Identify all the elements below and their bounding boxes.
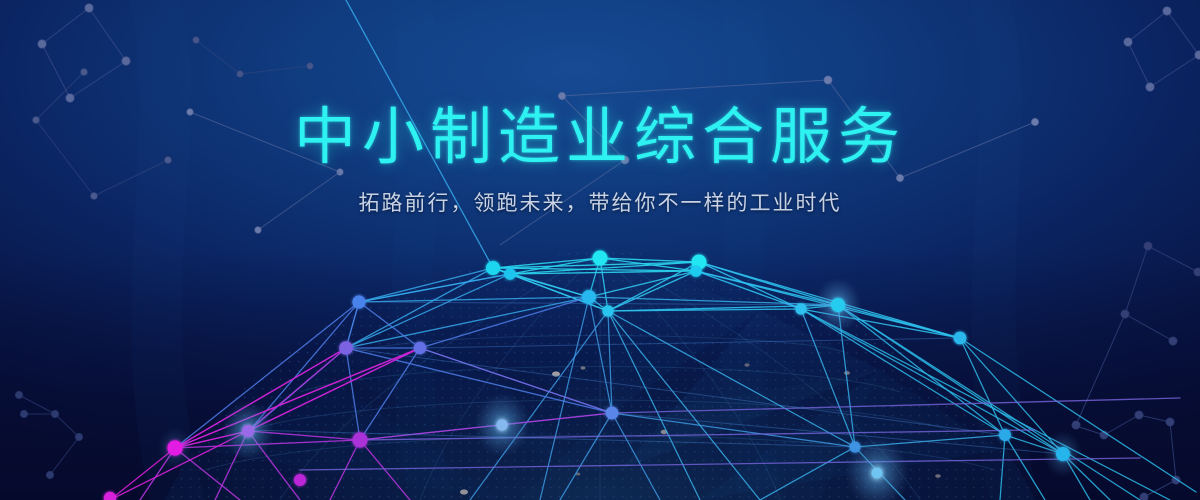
node-icon: [242, 425, 254, 437]
node-icon: [954, 332, 967, 345]
node-icon: [872, 468, 883, 479]
node-icon: [1056, 447, 1070, 461]
constellation-left-chain: [33, 69, 172, 200]
node-icon: [104, 492, 116, 500]
node-icon: [504, 268, 516, 280]
hero-banner: 中小制造业综合服务 拓路前行，领跑未来，带给你不一样的工业时代: [0, 0, 1200, 500]
node-icon: [593, 251, 608, 266]
constellation-mid-left: [193, 37, 313, 77]
node-icon: [999, 429, 1011, 441]
constellation-bottom-left: [15, 391, 82, 478]
node-icon: [496, 419, 507, 430]
constellation-title-overlay: [187, 76, 1039, 245]
network-mesh-layer: [0, 0, 1200, 500]
node-icon: [352, 432, 367, 447]
constellation-top-right: [1124, 7, 1200, 91]
node-icon: [795, 303, 806, 314]
constellation-lower-right: [1073, 411, 1180, 500]
node-icon: [690, 265, 702, 277]
node-icon: [582, 290, 596, 304]
node-icon: [167, 440, 182, 455]
node-icon: [339, 341, 353, 355]
node-icon: [849, 441, 860, 452]
node-icon: [294, 474, 306, 486]
node-icon: [831, 298, 845, 312]
node-icon: [606, 407, 619, 420]
mesh-nodes: [104, 251, 1070, 500]
node-icon: [602, 305, 613, 316]
node-icon: [486, 261, 500, 275]
node-icon: [414, 342, 426, 354]
node-icon: [352, 295, 365, 308]
constellation-top-left: [38, 4, 130, 102]
